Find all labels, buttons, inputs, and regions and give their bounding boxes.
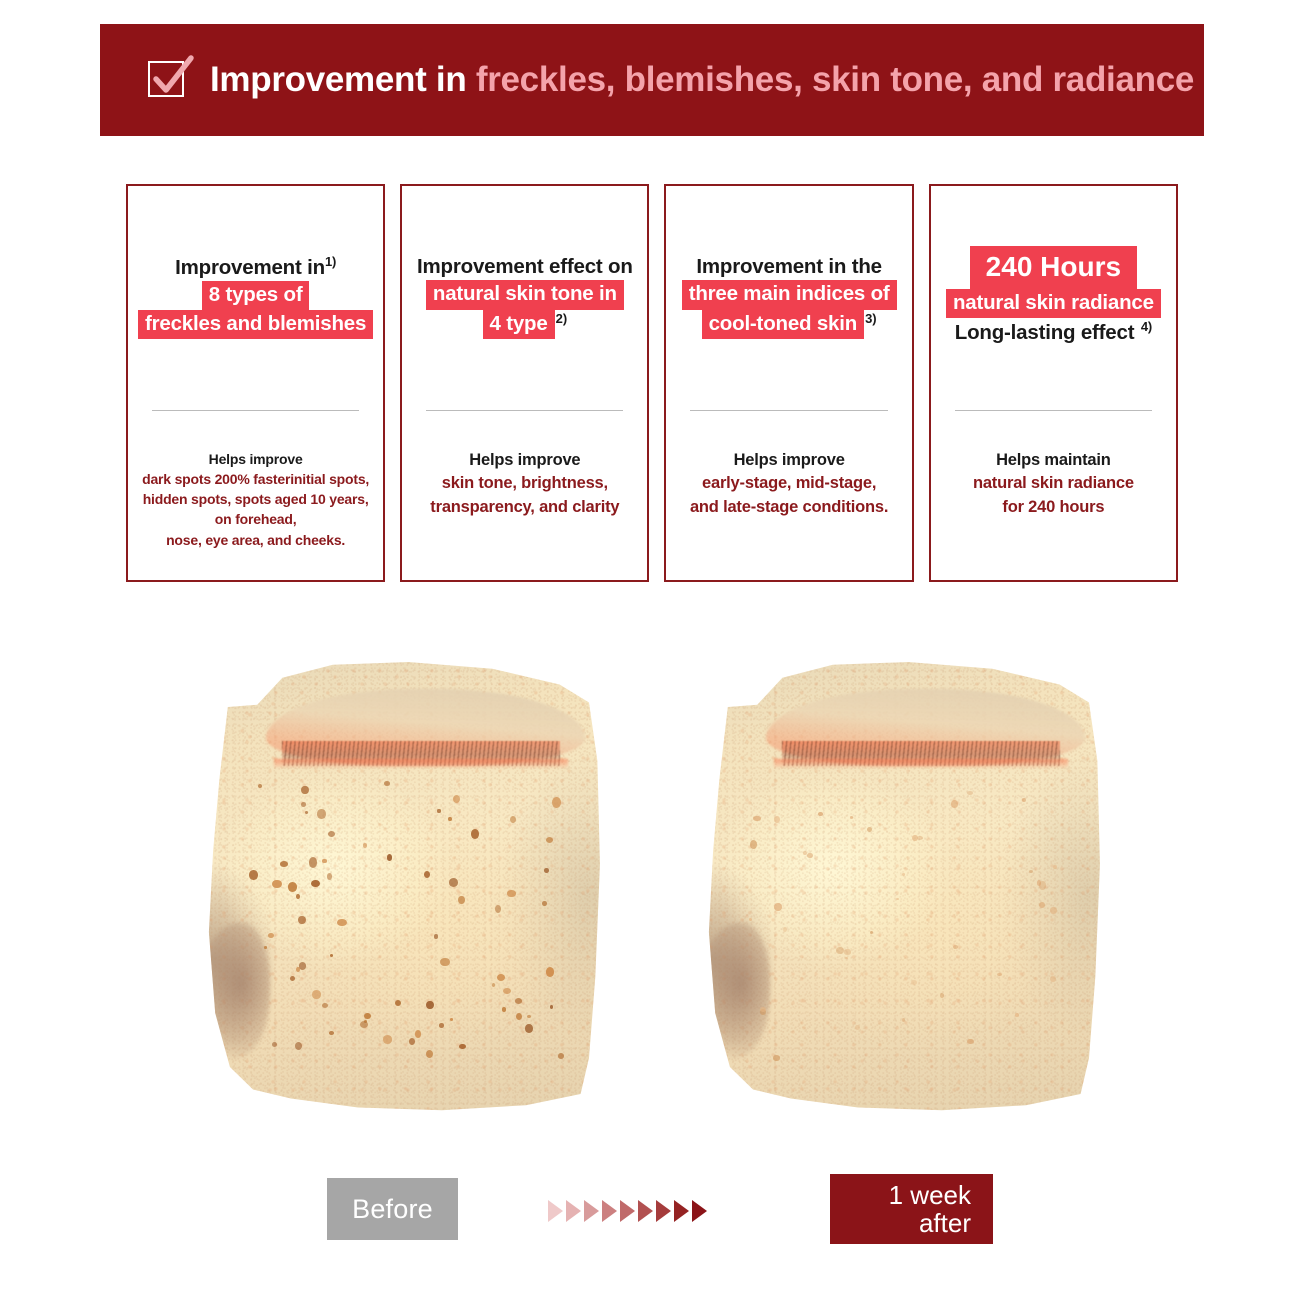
skin-spot bbox=[750, 840, 757, 849]
skin-spot bbox=[299, 962, 307, 969]
skin-spot bbox=[311, 880, 320, 887]
page-title: Improvement in freckles, blemishes, skin… bbox=[210, 60, 1194, 100]
skin-surface-before bbox=[190, 662, 610, 1112]
card-headline: 240 Hours natural skin radiance Long-las… bbox=[941, 186, 1166, 410]
progress-arrow-8 bbox=[674, 1200, 689, 1222]
lash-line bbox=[774, 759, 1068, 769]
progress-arrow-6 bbox=[638, 1200, 653, 1222]
skin-image-after bbox=[690, 662, 1110, 1112]
skin-spot bbox=[1022, 798, 1025, 802]
header-banner: Improvement in freckles, blemishes, skin… bbox=[100, 24, 1204, 136]
skin-spot bbox=[492, 983, 495, 987]
skin-spot bbox=[1039, 881, 1046, 889]
checkbox-checked-icon bbox=[148, 59, 188, 99]
card-body: Helps improve skin tone, brightness, tra… bbox=[412, 411, 637, 580]
skin-surface-after bbox=[690, 662, 1110, 1112]
skin-spot bbox=[967, 1039, 974, 1044]
skin-spot bbox=[836, 947, 843, 954]
progress-arrow-1 bbox=[548, 1200, 563, 1222]
progress-arrows bbox=[548, 1197, 748, 1225]
benefit-card-cool-toned: Improvement in the three main indices of… bbox=[664, 184, 913, 582]
card1-body-head: Helps improve bbox=[209, 449, 303, 469]
skin-spot bbox=[953, 945, 958, 949]
card2-highlight-line3: 4 type bbox=[483, 310, 555, 339]
skin-spot bbox=[844, 949, 850, 954]
card2-highlight-line2: natural skin tone in bbox=[426, 280, 624, 309]
skin-spot bbox=[516, 1013, 522, 1020]
card1-highlight-line3: freckles and blemishes bbox=[138, 310, 373, 339]
skin-spot bbox=[940, 993, 944, 997]
skin-spot bbox=[902, 873, 905, 876]
skin-spot bbox=[774, 816, 780, 823]
header-title-highlight: freckles, blemishes, skin tone, and radi… bbox=[476, 60, 1194, 99]
card4-highlight-line2: natural skin radiance bbox=[946, 289, 1161, 318]
skin-spot bbox=[760, 1007, 766, 1012]
skin-spot bbox=[507, 890, 516, 897]
skin-spot bbox=[409, 1038, 415, 1045]
after-label: 1 week after bbox=[830, 1174, 993, 1244]
card-body: Helps improve early-stage, mid-stage, an… bbox=[676, 411, 901, 580]
progress-arrow-2 bbox=[566, 1200, 581, 1222]
skin-spot bbox=[558, 1053, 564, 1059]
footnote-marker-2: 2) bbox=[556, 311, 568, 326]
skin-spot bbox=[301, 786, 308, 795]
skin-spot bbox=[1050, 907, 1057, 913]
skin-spot bbox=[459, 1044, 466, 1049]
before-label: Before bbox=[327, 1178, 458, 1240]
card1-body-line4: nose, eye area, and cheeks. bbox=[166, 530, 345, 550]
card4-headline-line3: Long-lasting effect 4) bbox=[955, 318, 1152, 346]
skin-spot bbox=[440, 958, 450, 967]
progress-arrow-7 bbox=[656, 1200, 671, 1222]
card2-body-line1: skin tone, brightness, bbox=[442, 472, 608, 495]
skin-spot bbox=[503, 988, 511, 994]
skin-spot bbox=[384, 781, 390, 786]
skin-spot bbox=[437, 809, 440, 812]
skin-spot bbox=[544, 868, 549, 873]
card3-headline-line1: Improvement in the bbox=[696, 253, 882, 280]
benefit-card-freckles: Improvement in1) 8 types of freckles and… bbox=[126, 184, 385, 582]
skin-spot bbox=[322, 859, 326, 862]
skin-spot bbox=[967, 791, 973, 795]
footnote-marker-4: 4) bbox=[1141, 319, 1152, 334]
header-title-plain: Improvement in bbox=[210, 60, 466, 99]
benefit-card-skin-tone: Improvement effect on natural skin tone … bbox=[400, 184, 649, 582]
skin-spot bbox=[364, 1013, 371, 1019]
skin-spot bbox=[268, 933, 274, 938]
card4-highlight-240-hours: 240 Hours bbox=[970, 246, 1137, 289]
skin-spot bbox=[1050, 976, 1056, 982]
skin-spot bbox=[288, 882, 297, 891]
card3-highlight-line2: three main indices of bbox=[682, 280, 897, 309]
card-headline: Improvement in1) 8 types of freckles and… bbox=[138, 186, 373, 410]
benefit-card-240-hours: 240 Hours natural skin radiance Long-las… bbox=[929, 184, 1178, 582]
nose-fold-shadow bbox=[198, 923, 269, 1058]
progress-arrow-5 bbox=[620, 1200, 635, 1222]
card3-highlight-line3: cool-toned skin bbox=[702, 310, 864, 339]
skin-spot bbox=[1015, 1013, 1019, 1017]
skin-spot bbox=[258, 784, 262, 788]
skin-spot bbox=[510, 816, 516, 823]
skin-spot bbox=[295, 1042, 302, 1050]
card1-body-line1: dark spots 200% fasterinitial spots, bbox=[142, 469, 369, 489]
footnote-marker-1: 1) bbox=[325, 254, 336, 269]
skin-spot bbox=[426, 1050, 433, 1058]
progress-arrow-9 bbox=[692, 1200, 707, 1222]
card-headline: Improvement effect on natural skin tone … bbox=[412, 186, 637, 410]
card2-body-head: Helps improve bbox=[469, 449, 580, 472]
skin-image-before bbox=[190, 662, 610, 1112]
skin-spot bbox=[448, 817, 451, 821]
skin-spot bbox=[363, 843, 367, 848]
skin-spot bbox=[546, 967, 554, 976]
card4-body-head: Helps maintain bbox=[996, 449, 1111, 472]
card2-headline-line1: Improvement effect on bbox=[417, 253, 633, 280]
skin-spot bbox=[439, 1023, 444, 1027]
after-label-line2: after bbox=[919, 1209, 971, 1237]
after-label-line1: 1 week bbox=[889, 1181, 971, 1209]
card1-body-line2: hidden spots, spots aged 10 years, bbox=[143, 489, 369, 509]
card-body: Helps maintain natural skin radiance for… bbox=[941, 411, 1166, 580]
before-after-image-area bbox=[0, 640, 1304, 1140]
progress-arrow-3 bbox=[584, 1200, 599, 1222]
benefit-card-row: Improvement in1) 8 types of freckles and… bbox=[126, 184, 1178, 582]
card3-body-line1: early-stage, mid-stage, bbox=[702, 472, 876, 495]
skin-spot bbox=[774, 903, 781, 911]
skin-spot bbox=[395, 1000, 401, 1006]
skin-spot bbox=[552, 797, 561, 808]
skin-spot bbox=[337, 919, 347, 927]
card2-body-line2: transparency, and clarity bbox=[430, 496, 619, 519]
card3-body-line2: and late-stage conditions. bbox=[690, 496, 888, 519]
skin-spot bbox=[249, 870, 258, 880]
card1-highlight-line2: 8 types of bbox=[202, 281, 310, 310]
nose-fold-shadow bbox=[698, 923, 769, 1058]
skin-spot bbox=[329, 1031, 334, 1035]
card3-body-head: Helps improve bbox=[734, 449, 845, 472]
card-headline: Improvement in the three main indices of… bbox=[676, 186, 901, 410]
skin-spot bbox=[773, 1055, 780, 1061]
card4-body-line1: natural skin radiance bbox=[973, 472, 1134, 495]
card1-headline-line1: Improvement in1) bbox=[175, 253, 336, 281]
skin-spot bbox=[317, 809, 326, 819]
card-body: Helps improve dark spots 200% fasterinit… bbox=[138, 411, 373, 580]
comparison-labels: Before 1 week after bbox=[0, 1172, 1304, 1252]
skin-spot bbox=[951, 800, 958, 807]
progress-arrow-4 bbox=[602, 1200, 617, 1222]
skin-spot bbox=[525, 1024, 533, 1033]
skin-spot bbox=[850, 816, 853, 818]
card4-body-line2: for 240 hours bbox=[1002, 496, 1104, 519]
skin-spot bbox=[328, 831, 336, 837]
skin-spot bbox=[753, 816, 760, 822]
footnote-marker-3: 3) bbox=[865, 311, 877, 326]
skin-spot bbox=[280, 861, 288, 867]
skin-spot bbox=[818, 812, 823, 816]
card1-body-line3: on forehead, bbox=[215, 509, 297, 529]
skin-spot bbox=[502, 1007, 507, 1012]
lash-line bbox=[274, 759, 568, 769]
skin-spot bbox=[296, 967, 300, 972]
skin-spot bbox=[1053, 865, 1058, 869]
skin-spot bbox=[312, 990, 320, 999]
